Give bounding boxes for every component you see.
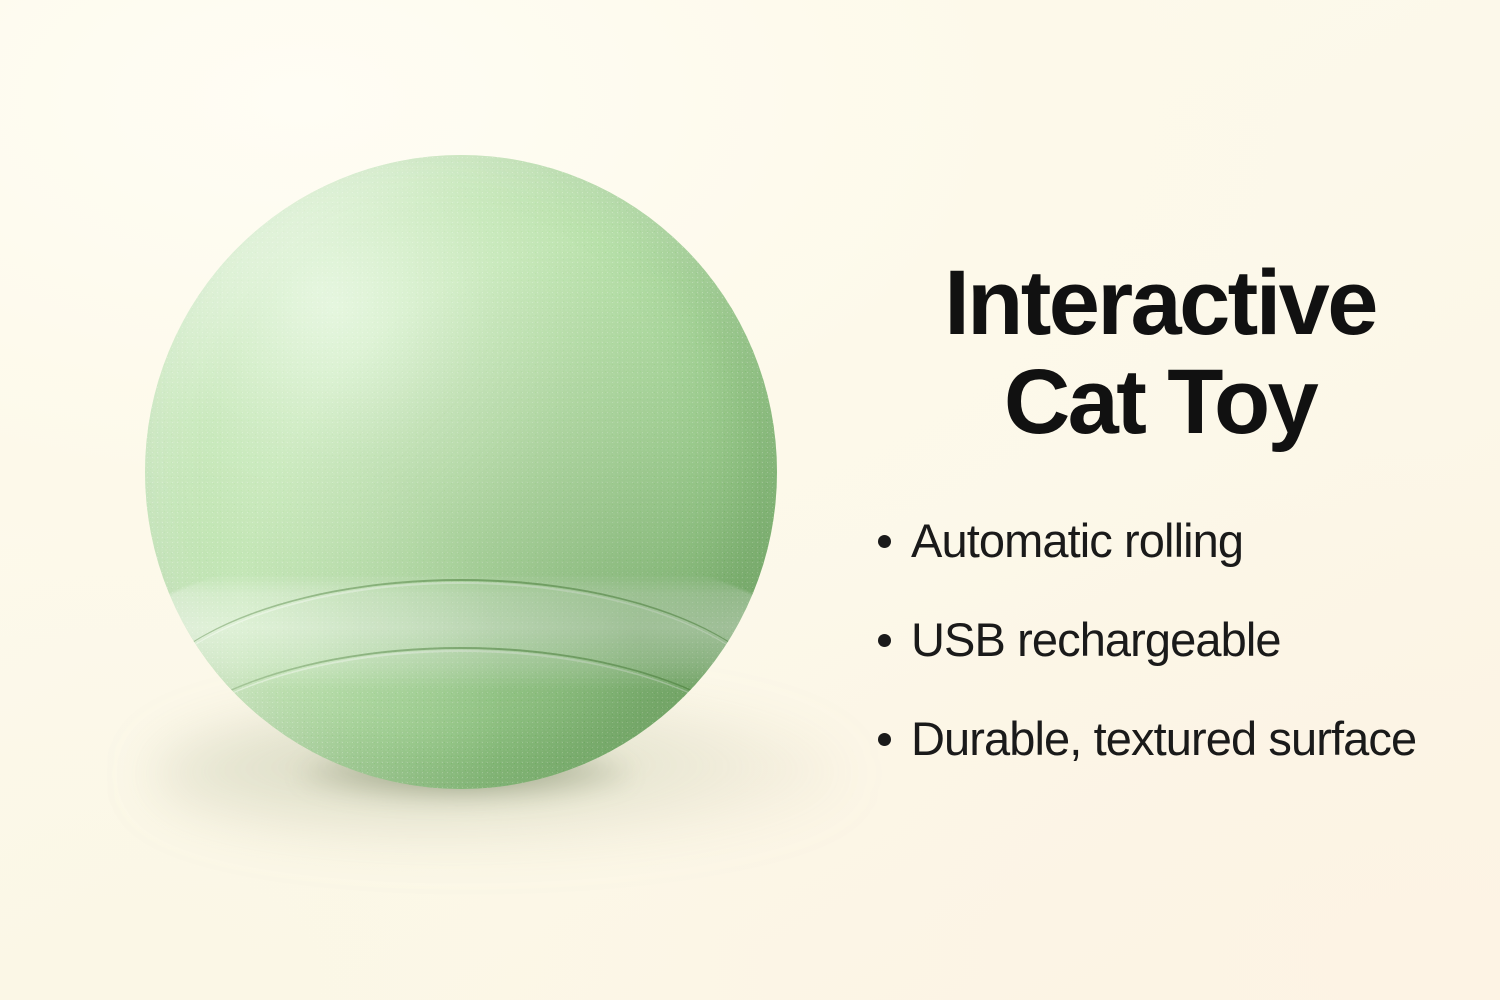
feature-label: USB rechargeable: [911, 612, 1460, 669]
product-title: Interactive Cat Toy: [860, 254, 1460, 451]
cat-toy-ball: [145, 155, 777, 789]
band-face: [145, 573, 777, 691]
bullet-icon: [878, 535, 891, 548]
product-image-area: [0, 0, 840, 1000]
feature-item: Automatic rolling: [860, 513, 1460, 570]
sphere-shading-overlay: [145, 155, 777, 789]
feature-label: Durable, textured surface: [911, 711, 1460, 768]
feature-item: Durable, textured surface: [860, 711, 1460, 768]
product-feature-card: Interactive Cat Toy Automatic rolling US…: [0, 0, 1500, 1000]
equatorial-seam-band: [145, 573, 777, 691]
surface-texture-overlay: [145, 155, 777, 789]
feature-item: USB rechargeable: [860, 612, 1460, 669]
feature-list: Automatic rolling USB rechargeable Durab…: [860, 513, 1460, 768]
bullet-icon: [878, 733, 891, 746]
bullet-icon: [878, 634, 891, 647]
seam-line-top: [145, 579, 777, 729]
feature-label: Automatic rolling: [911, 513, 1460, 570]
product-copy-column: Interactive Cat Toy Automatic rolling US…: [860, 0, 1460, 1000]
